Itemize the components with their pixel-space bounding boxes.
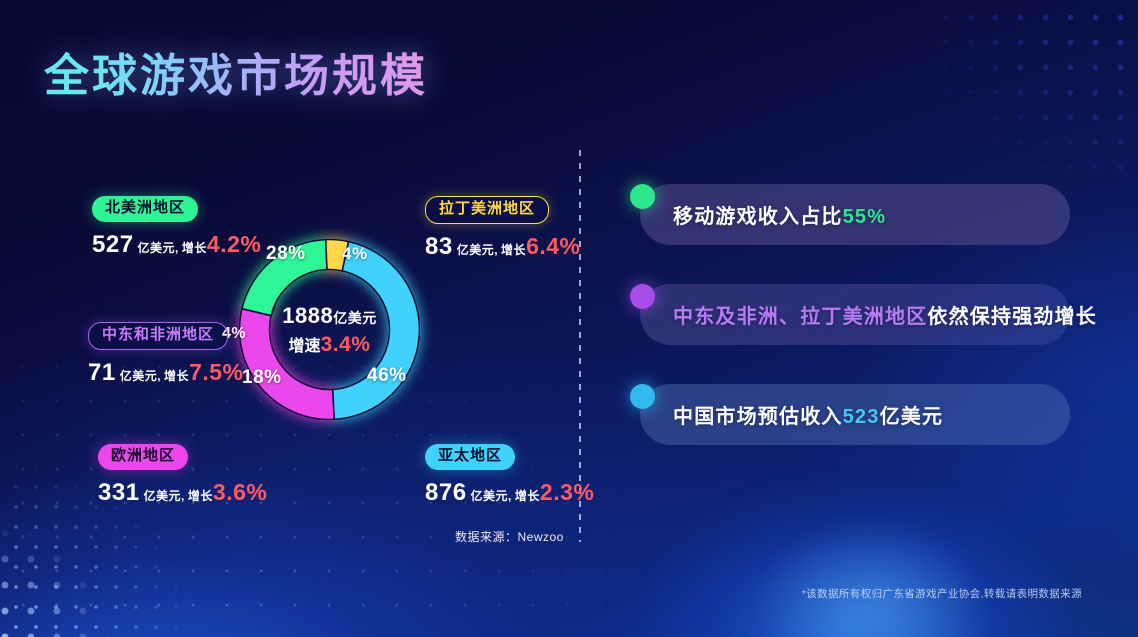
region-unit-middle-east-africa: 亿美元,: [120, 367, 161, 384]
region-pill-north-america: 北美洲地区: [92, 196, 198, 222]
highlight-text-mea-latam-growth: 中东及非洲、拉丁美洲地区依然保持强劲增长: [673, 300, 1097, 329]
highlight-text-mobile-share: 移动游戏收入占比55%: [673, 200, 886, 229]
highlight-accent-mobile-share: 55%: [843, 206, 887, 228]
bullet-dot-cyan-icon: [630, 384, 655, 409]
region-callout-middle-east-africa: 中东和非洲地区 71 亿美元, 增长 7.5%: [88, 322, 244, 387]
region-unit-latin-america: 亿美元,: [457, 241, 498, 258]
highlight-accent-china-revenue: 523: [843, 406, 880, 428]
region-pill-middle-east-africa: 中东和非洲地区: [88, 322, 228, 350]
donut-growth-line: 增速3.4%: [289, 332, 371, 357]
region-revenue-latin-america: 83: [425, 233, 453, 261]
region-growth-north-america: 4.2%: [207, 231, 261, 258]
region-growth-middle-east-africa: 7.5%: [189, 359, 243, 386]
region-unit-asia-pacific: 亿美元,: [471, 487, 512, 504]
highlight-text-china-revenue-tail: 亿美元: [880, 406, 944, 428]
region-growth-europe: 3.6%: [213, 479, 267, 506]
bullet-dot-green-icon: [630, 184, 655, 209]
region-growth-label-asia-pacific: 增长: [515, 487, 540, 504]
region-value-latin-america: 83 亿美元, 增长 6.4%: [425, 233, 581, 261]
bullet-dot-purple-icon: [630, 284, 655, 309]
region-value-middle-east-africa: 71 亿美元, 增长 7.5%: [88, 359, 244, 387]
region-revenue-middle-east-africa: 71: [88, 359, 116, 387]
region-revenue-asia-pacific: 876: [425, 479, 467, 507]
region-unit-north-america: 亿美元,: [138, 239, 179, 256]
region-pill-latin-america: 拉丁美洲地区: [425, 196, 549, 224]
donut-total-line: 1888亿美元: [282, 303, 376, 329]
region-revenue-north-america: 527: [92, 231, 134, 259]
region-revenue-europe: 331: [98, 479, 140, 507]
highlight-text-mobile-share-plain: 移动游戏收入占比: [673, 206, 843, 228]
donut-growth-value: 3.4%: [321, 333, 371, 356]
region-callout-latin-america: 拉丁美洲地区 83 亿美元, 增长 6.4%: [425, 196, 581, 261]
region-growth-label-north-america: 增长: [182, 239, 207, 256]
slide-root: 全球游戏市场规模 46%: [0, 0, 1138, 637]
highlight-card-china-revenue[interactable]: 中国市场预估收入523亿美元: [640, 384, 1070, 445]
highlight-text-mea-latam-growth-plain: 依然保持强劲增长: [927, 306, 1097, 328]
region-callout-europe: 欧洲地区 331 亿美元, 增长 3.6%: [98, 444, 267, 507]
region-callout-north-america: 北美洲地区 527 亿美元, 增长 4.2%: [92, 196, 261, 259]
region-pill-europe: 欧洲地区: [98, 444, 188, 470]
highlight-text-china-revenue: 中国市场预估收入523亿美元: [673, 400, 943, 429]
region-growth-asia-pacific: 2.3%: [540, 479, 594, 506]
chart-source-note: 数据来源：Newzoo: [455, 528, 564, 545]
highlight-accent-mea-latam-growth: 中东及非洲、拉丁美洲地区: [673, 306, 927, 328]
donut-total-unit: 亿美元: [333, 310, 377, 326]
highlight-card-mobile-share[interactable]: 移动游戏收入占比55%: [640, 184, 1070, 245]
donut-growth-label: 增速: [289, 338, 321, 355]
background-glow-bottom-right-core: [760, 517, 990, 637]
region-unit-europe: 亿美元,: [144, 487, 185, 504]
highlights-list: 移动游戏收入占比55% 中东及非洲、拉丁美洲地区依然保持强劲增长 中国市场预估收…: [630, 170, 1070, 445]
highlight-row-china-revenue: 中国市场预估收入523亿美元: [630, 384, 1070, 445]
page-title: 全球游戏市场规模: [44, 50, 428, 102]
region-growth-latin-america: 6.4%: [526, 233, 580, 260]
donut-total-value: 1888: [282, 303, 333, 328]
region-callout-asia-pacific: 亚太地区 876 亿美元, 增长 2.3%: [425, 444, 594, 507]
highlight-row-mea-latam-growth: 中东及非洲、拉丁美洲地区依然保持强劲增长: [630, 284, 1070, 345]
highlight-text-china-revenue-plain: 中国市场预估收入: [673, 406, 843, 428]
highlight-card-mea-latam-growth[interactable]: 中东及非洲、拉丁美洲地区依然保持强劲增长: [640, 284, 1070, 345]
highlight-row-mobile-share: 移动游戏收入占比55%: [630, 184, 1070, 245]
region-growth-label-europe: 增长: [188, 487, 213, 504]
copyright-footnote: *该数据所有权归广东省游戏产业协会,转载请表明数据来源: [802, 586, 1082, 601]
background-glow-bottom-right: [640, 477, 1070, 637]
region-growth-label-latin-america: 增长: [501, 241, 526, 258]
region-value-asia-pacific: 876 亿美元, 增长 2.3%: [425, 479, 594, 507]
region-growth-label-middle-east-africa: 增长: [164, 367, 189, 384]
region-value-europe: 331 亿美元, 增长 3.6%: [98, 479, 267, 507]
region-pill-asia-pacific: 亚太地区: [425, 444, 515, 470]
region-value-north-america: 527 亿美元, 增长 4.2%: [92, 231, 261, 259]
